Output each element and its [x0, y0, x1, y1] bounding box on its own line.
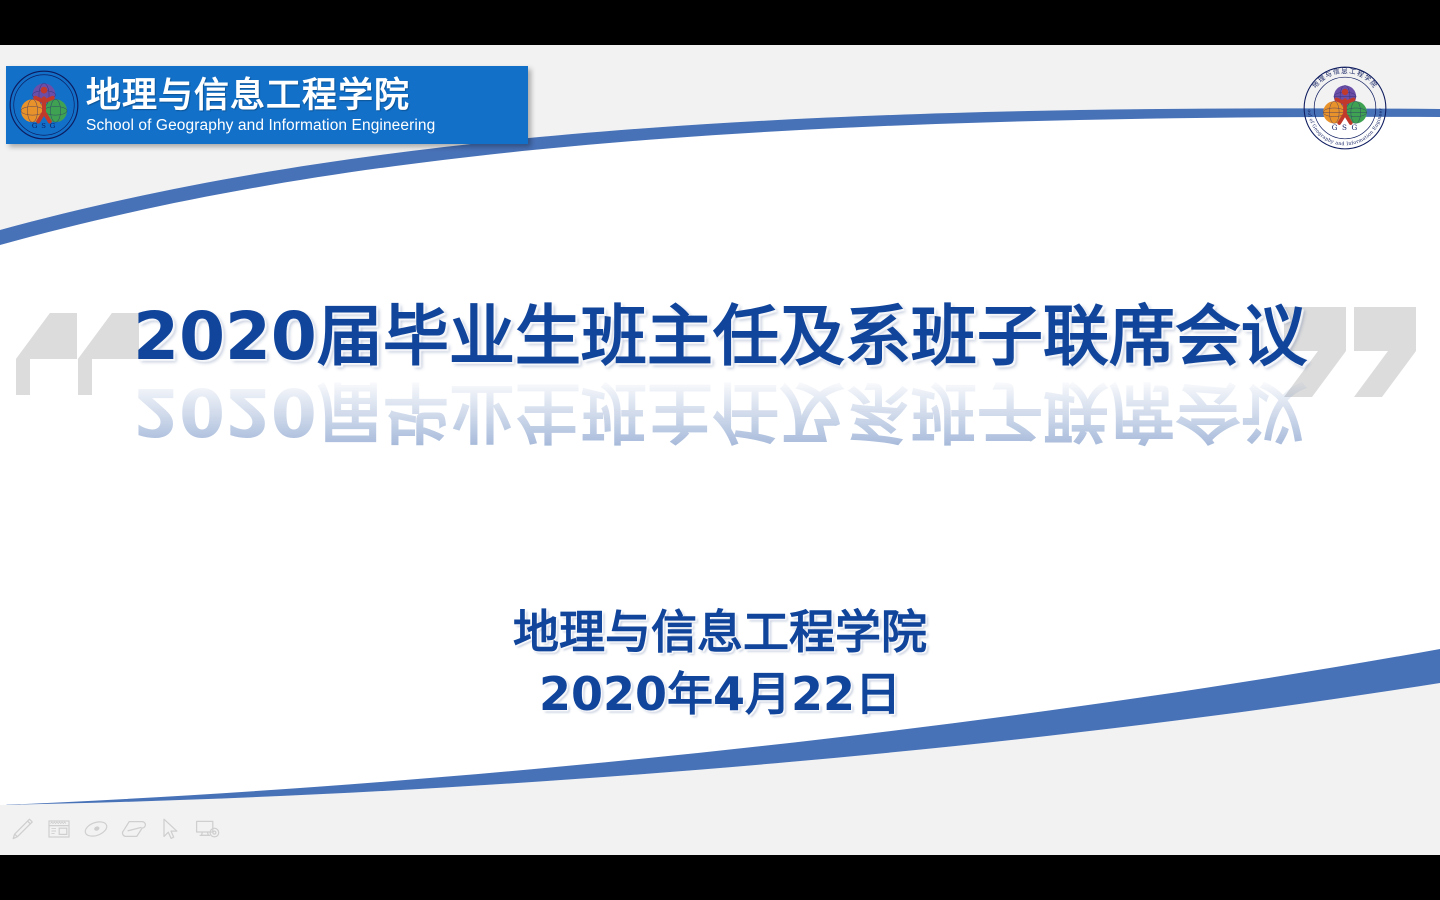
display-settings-icon[interactable]	[193, 816, 221, 842]
presentation-viewport: G S G 地理与信息工程学院 School of Geography and …	[0, 0, 1440, 900]
slide-title-reflection: 2020届毕业生班主任及系班子联席会议	[0, 367, 1440, 455]
seal-abbr: G S G	[1332, 123, 1359, 132]
eraser-icon[interactable]	[119, 816, 147, 842]
slide-title-block: 2020届毕业生班主任及系班子联席会议 2020届毕业生班主任及系班子联席会议	[0, 293, 1440, 455]
banner-school-name-cn: 地理与信息工程学院	[86, 76, 435, 116]
slide-view-icon[interactable]	[45, 816, 73, 842]
cursor-arrow-icon[interactable]	[156, 816, 184, 842]
presenter-toolbar[interactable]	[8, 816, 221, 842]
subtitle-organization: 地理与信息工程学院	[0, 601, 1440, 663]
laser-pointer-icon[interactable]	[82, 816, 110, 842]
pen-icon[interactable]	[8, 816, 36, 842]
subtitle-date: 2020年4月22日	[0, 663, 1440, 725]
slide-subtitle-block: 地理与信息工程学院 2020年4月22日	[0, 601, 1440, 725]
banner-logo-abbr: G S G	[32, 122, 56, 130]
gsg-seal-icon: 地理与信息工程学院 School of Geography and Inform…	[1302, 65, 1388, 151]
school-banner: G S G 地理与信息工程学院 School of Geography and …	[6, 66, 528, 144]
gsg-emblem-icon: G S G	[8, 69, 80, 141]
banner-school-name-en: School of Geography and Information Engi…	[86, 116, 435, 135]
slide-canvas: G S G 地理与信息工程学院 School of Geography and …	[0, 45, 1440, 855]
